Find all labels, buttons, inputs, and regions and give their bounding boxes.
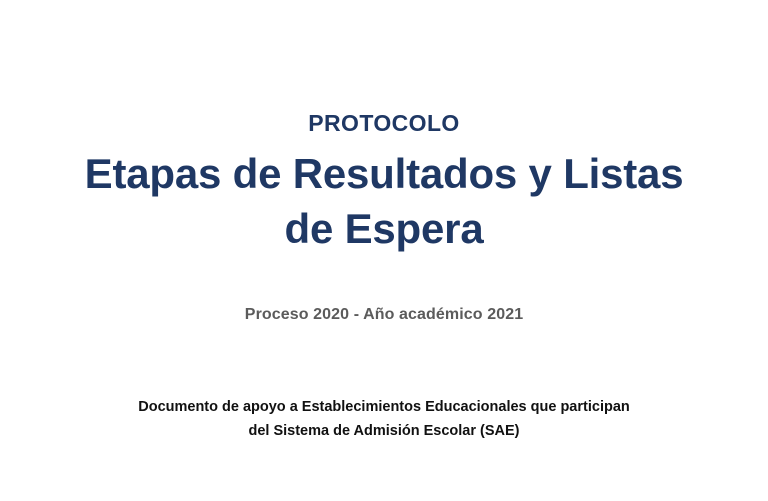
page-title-line-2: de Espera <box>0 201 768 256</box>
footer-note-line-1: Documento de apoyo a Establecimientos Ed… <box>0 396 768 420</box>
document-kicker: PROTOCOLO <box>0 110 768 136</box>
document-subtitle: Proceso 2020 - Año académico 2021 <box>0 305 768 324</box>
page-title: Etapas de Resultados y Listas de Espera <box>0 146 768 257</box>
page-title-line-1: Etapas de Resultados y Listas <box>0 146 768 201</box>
footer-note-line-2: del Sistema de Admisión Escolar (SAE) <box>0 420 768 444</box>
document-cover-page: PROTOCOLO Etapas de Resultados y Listas … <box>0 0 768 501</box>
document-footer-note: Documento de apoyo a Establecimientos Ed… <box>0 396 768 444</box>
